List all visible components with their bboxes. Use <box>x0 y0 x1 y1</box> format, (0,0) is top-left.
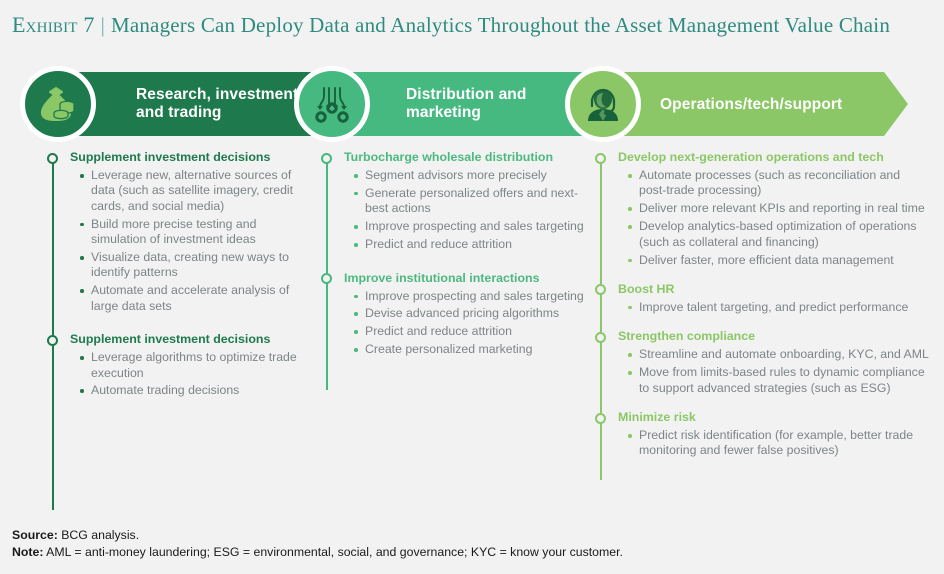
group-heading: Turbocharge wholesale distribution <box>344 150 584 165</box>
bullet-list: Improve talent targeting, and predict pe… <box>618 300 930 315</box>
list-item: Create personalized marketing <box>354 342 584 357</box>
column-research-investment-trading: Supplement investment decisions Leverage… <box>52 150 310 413</box>
group-item: Improve institutional interactions Impro… <box>326 271 584 358</box>
list-item: Automate trading decisions <box>80 383 310 398</box>
list-item: Leverage new, alternative sources of dat… <box>80 168 310 214</box>
list-item: Predict and reduce attrition <box>354 237 584 252</box>
money-bag-icon <box>20 66 96 142</box>
list-item: Deliver faster, more efficient data mana… <box>628 253 930 268</box>
note-text: AML = anti-money laundering; ESG = envir… <box>43 545 623 559</box>
bullet-list: Leverage new, alternative sources of dat… <box>70 168 310 314</box>
timeline-marker-icon <box>595 153 606 164</box>
group-heading: Minimize risk <box>618 410 930 425</box>
bullet-list: Predict risk identification (for example… <box>618 428 930 459</box>
column-operations-tech-support: Develop next-generation operations and t… <box>600 150 930 473</box>
group-heading: Strengthen compliance <box>618 329 930 344</box>
group-item: Supplement investment decisions Leverage… <box>52 150 310 314</box>
group-heading: Boost HR <box>618 282 930 297</box>
group-item: Minimize risk Predict risk identificatio… <box>600 410 930 459</box>
note-line: Note: AML = anti-money laundering; ESG =… <box>12 544 932 561</box>
list-item: Predict risk identification (for example… <box>628 428 930 459</box>
page-title: Exhibit 7|Managers Can Deploy Data and A… <box>12 12 932 40</box>
timeline-marker-icon <box>47 335 58 346</box>
bullet-list: Segment advisors more precisely Generate… <box>344 168 584 253</box>
list-item: Segment advisors more precisely <box>354 168 584 183</box>
group-heading: Supplement investment decisions <box>70 150 310 165</box>
list-item: Improve prospecting and sales targeting <box>354 219 584 234</box>
group-heading: Develop next-generation operations and t… <box>618 150 930 165</box>
list-item: Streamline and automate onboarding, KYC,… <box>628 347 930 362</box>
timeline-marker-icon <box>595 413 606 424</box>
list-item: Automate and accelerate analysis of larg… <box>80 283 310 314</box>
bullet-list: Improve prospecting and sales targeting … <box>344 289 584 358</box>
banner-label-operations: Operations/tech/support <box>660 96 920 114</box>
timeline-marker-icon <box>47 153 58 164</box>
value-chain-banner: Research, investment, and trading Distri… <box>20 66 932 142</box>
group-heading: Supplement investment decisions <box>70 332 310 347</box>
footer-notes: Source: BCG analysis. Note: AML = anti-m… <box>12 527 932 561</box>
source-label: Source: <box>12 528 58 542</box>
list-item: Predict and reduce attrition <box>354 324 584 339</box>
group-item: Supplement investment decisions Leverage… <box>52 332 310 399</box>
list-item: Develop analytics-based optimization of … <box>628 219 930 250</box>
note-label: Note: <box>12 545 43 559</box>
timeline-marker-icon <box>595 284 606 295</box>
group-item: Turbocharge wholesale distribution Segme… <box>326 150 584 253</box>
list-item: Build more precise testing and simulatio… <box>80 217 310 248</box>
exhibit-label: Exhibit 7 <box>12 12 95 37</box>
list-item: Improve talent targeting, and predict pe… <box>628 300 930 315</box>
list-item: Devise advanced pricing algorithms <box>354 306 584 321</box>
bullet-list: Streamline and automate onboarding, KYC,… <box>618 347 930 396</box>
group-item: Develop next-generation operations and t… <box>600 150 930 268</box>
list-item: Leverage algorithms to optimize trade ex… <box>80 350 310 381</box>
headset-support-agent-icon <box>565 66 641 142</box>
list-item: Automate processes (such as reconciliati… <box>628 168 930 199</box>
distribution-network-icon <box>294 66 370 142</box>
list-item: Generate personalized offers and next-be… <box>354 186 584 217</box>
bullet-list: Automate processes (such as reconciliati… <box>618 168 930 268</box>
timeline-marker-icon <box>321 153 332 164</box>
timeline-marker-icon <box>595 332 606 343</box>
list-item: Move from limits-based rules to dynamic … <box>628 365 930 396</box>
source-line: Source: BCG analysis. <box>12 527 932 544</box>
list-item: Improve prospecting and sales targeting <box>354 289 584 304</box>
source-text: BCG analysis. <box>58 528 139 542</box>
group-heading: Improve institutional interactions <box>344 271 584 286</box>
banner-label-distribution: Distribution and marketing <box>406 86 586 122</box>
list-item: Deliver more relevant KPIs and reporting… <box>628 201 930 216</box>
title-separator: | <box>95 13 111 37</box>
group-item: Boost HR Improve talent targeting, and p… <box>600 282 930 315</box>
timeline-marker-icon <box>321 273 332 284</box>
title-text: Managers Can Deploy Data and Analytics T… <box>111 13 890 37</box>
column-distribution-marketing: Turbocharge wholesale distribution Segme… <box>326 150 584 372</box>
list-item: Visualize data, creating new ways to ide… <box>80 250 310 281</box>
bullet-list: Leverage algorithms to optimize trade ex… <box>70 350 310 399</box>
group-item: Strengthen compliance Streamline and aut… <box>600 329 930 396</box>
